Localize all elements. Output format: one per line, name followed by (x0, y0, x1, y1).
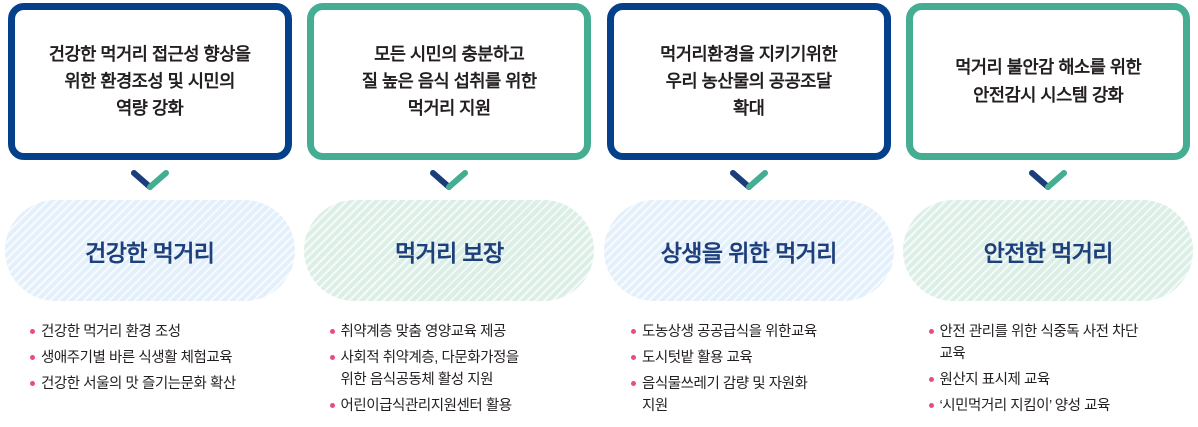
list-item: 도시텃밭 활용 교육 (631, 347, 889, 369)
bullet-list-3: 도농상생 공공급식을 위한교육 도시텃밭 활용 교육 음식물쓰레기 감량 및 자… (631, 321, 889, 421)
goal-box-3: 먹거리환경을 지키기위한 우리 농산물의 공공조달 확대 (607, 3, 891, 160)
food-policy-diagram: 건강한 먹거리 접근성 향상을 위한 환경조성 및 시민의 역량 강화 건강한 … (0, 0, 1198, 427)
theme-pill-label-4: 안전한 먹거리 (984, 234, 1113, 268)
list-item: 건강한 서울의 맛 즐기는문화 확산 (30, 373, 296, 395)
list-item: 원산지 표시제 교육 (929, 369, 1191, 391)
list-item: 음식물쓰레기 감량 및 자원화 지원 (631, 373, 889, 417)
list-item: 취약계층 맞춤 영양교육 제공 (330, 321, 592, 343)
list-item-text: ‘시민먹거리 지킴이’ 양성 교육 (940, 395, 1191, 417)
bullet-list-4: 안전 관리를 위한 식중독 사전 차단 교육 원산지 표시제 교육 ‘시민먹거리… (929, 321, 1191, 421)
list-item-text: 원산지 표시제 교육 (940, 369, 1191, 391)
goal-box-2: 모든 시민의 충분하고 질 높은 음식 섭취를 위한 먹거리 지원 (307, 3, 591, 160)
list-item: ‘시민먹거리 지킴이’ 양성 교육 (929, 395, 1191, 417)
list-item-text: 음식물쓰레기 감량 및 자원화 지원 (642, 373, 889, 417)
theme-pill-3: 상생을 위한 먹거리 (604, 200, 894, 301)
list-item-text: 도시텃밭 활용 교육 (642, 347, 889, 369)
list-item-text: 어린이급식관리지원센터 활용 (341, 395, 592, 417)
bullet-list-1: 건강한 먹거리 환경 조성 생애주기별 바른 식생활 체험교육 건강한 서울의 … (30, 321, 296, 399)
list-item-text: 안전 관리를 위한 식중독 사전 차단 교육 (940, 321, 1191, 365)
theme-pill-2: 먹거리 보장 (304, 200, 594, 301)
list-item: 건강한 먹거리 환경 조성 (30, 321, 296, 343)
theme-pill-label-1: 건강한 먹거리 (85, 234, 214, 268)
list-item-text: 취약계층 맞춤 영양교육 제공 (341, 321, 592, 343)
list-item: 사회적 취약계층, 다문화가정을 위한 음식공동체 활성 지원 (330, 347, 592, 391)
list-item-text: 생애주기별 바른 식생활 체험교육 (41, 347, 296, 369)
list-item: 안전 관리를 위한 식중독 사전 차단 교육 (929, 321, 1191, 365)
theme-pill-label-2: 먹거리 보장 (395, 234, 504, 268)
list-item-text: 건강한 먹거리 환경 조성 (41, 321, 296, 343)
list-item: 도농상생 공공급식을 위한교육 (631, 321, 889, 343)
chevron-down-icon-4 (1028, 160, 1068, 200)
goal-box-4: 먹거리 불안감 해소를 위한 안전감시 시스템 강화 (906, 3, 1190, 160)
list-item: 생애주기별 바른 식생활 체험교육 (30, 347, 296, 369)
chevron-down-icon-2 (429, 160, 469, 200)
theme-pill-4: 안전한 먹거리 (903, 200, 1193, 301)
goal-text-3: 먹거리환경을 지키기위한 우리 농산물의 공공조달 확대 (660, 41, 837, 122)
strategy-column-4: 먹거리 불안감 해소를 위한 안전감시 시스템 강화 안전한 먹거리 안전 관리… (899, 0, 1198, 427)
list-item-text: 건강한 서울의 맛 즐기는문화 확산 (41, 373, 296, 395)
chevron-down-icon-1 (130, 160, 170, 200)
list-item-text: 사회적 취약계층, 다문화가정을 위한 음식공동체 활성 지원 (341, 347, 592, 391)
goal-text-1: 건강한 먹거리 접근성 향상을 위한 환경조성 및 시민의 역량 강화 (49, 41, 251, 122)
strategy-column-3: 먹거리환경을 지키기위한 우리 농산물의 공공조달 확대 상생을 위한 먹거리 … (599, 0, 899, 427)
goal-text-2: 모든 시민의 충분하고 질 높은 음식 섭취를 위한 먹거리 지원 (362, 41, 537, 122)
list-item-text: 도농상생 공공급식을 위한교육 (642, 321, 889, 343)
chevron-down-icon-3 (729, 160, 769, 200)
goal-box-1: 건강한 먹거리 접근성 향상을 위한 환경조성 및 시민의 역량 강화 (8, 3, 292, 160)
strategy-column-1: 건강한 먹거리 접근성 향상을 위한 환경조성 및 시민의 역량 강화 건강한 … (0, 0, 300, 427)
theme-pill-1: 건강한 먹거리 (5, 200, 295, 301)
goal-text-4: 먹거리 불안감 해소를 위한 안전감시 시스템 강화 (955, 54, 1141, 108)
theme-pill-label-3: 상생을 위한 먹거리 (661, 234, 837, 268)
bullet-list-2: 취약계층 맞춤 영양교육 제공 사회적 취약계층, 다문화가정을 위한 음식공동… (330, 321, 592, 421)
list-item: 어린이급식관리지원센터 활용 (330, 395, 592, 417)
strategy-column-2: 모든 시민의 충분하고 질 높은 음식 섭취를 위한 먹거리 지원 먹거리 보장… (300, 0, 600, 427)
